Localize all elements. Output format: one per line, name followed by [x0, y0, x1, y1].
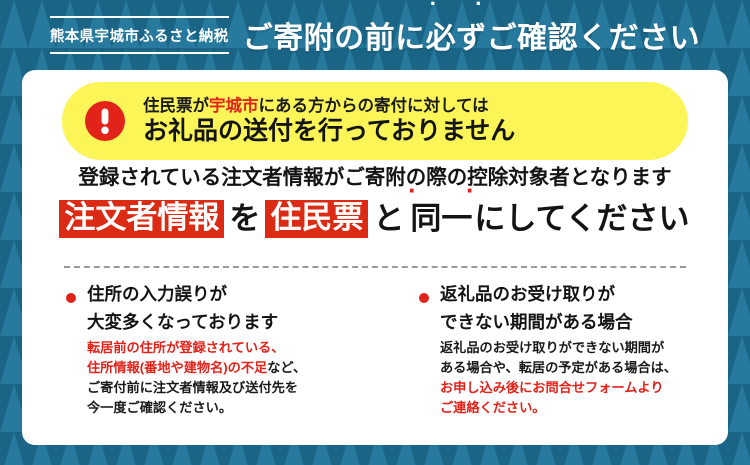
notice-columns: 住所の入力誤りが 大変多くなっております 転居前の住所が登録されている、 住所情…: [22, 282, 728, 419]
paragraph-line: ご寄付前に注文者情報及び送付先を: [87, 378, 365, 398]
exclamation-circle-icon: [84, 100, 126, 142]
paragraph-line: 今一度ご確認ください。: [87, 398, 365, 418]
alert-line1-before: 住民票が: [143, 97, 209, 115]
title-part-2: ご確認ください: [487, 22, 701, 55]
column-body: 返礼品のお受け取りが できない期間がある場合 返礼品のお受け取りができない期間が…: [440, 282, 718, 419]
column-heading-line-1: 住所の入力誤りが: [87, 282, 365, 306]
middle-emphasis-block: 登録されている注文者情報がご寄附の際の控除対象者となります 注文者情報を住民票と…: [22, 166, 728, 238]
middle-line-2: 注文者情報を住民票と同一にしてください: [22, 200, 728, 238]
paragraph-line: ある場合や、転居の予定がある場合は、: [440, 358, 718, 378]
title-emphasis-kanarazu: 必ず: [426, 13, 487, 57]
banner-header: 熊本県宇城市ふるさと納税 ご寄附の前に必ずご確認ください: [0, 0, 750, 70]
middle-emphasis-douitsu: 同一: [409, 201, 473, 237]
middle-line2-tail: にしてください: [473, 201, 690, 237]
red-dot-bullet-icon: [66, 293, 76, 303]
notice-column-delivery-window: 返礼品のお受け取りが できない期間がある場合 返礼品のお受け取りができない期間が…: [375, 282, 728, 419]
middle-separator-1: を: [224, 201, 265, 237]
middle-separator-2: と: [368, 201, 409, 237]
alert-line-2: お礼品の送付を行っておりません: [143, 117, 515, 145]
column-paragraph: 転居前の住所が登録されている、 住所情報(番地や建物名)の不足など、 ご寄付前に…: [87, 338, 365, 418]
paragraph-line: 住所情報(番地や建物名)の不足など、: [87, 358, 365, 378]
alert-line-1: 住民票が宇城市にある方からの寄付に対しては: [143, 97, 515, 116]
dashed-divider: [64, 266, 686, 268]
alert-line1-highlight-ushiki: 宇城市: [209, 97, 259, 115]
column-body: 住所の入力誤りが 大変多くなっております 転居前の住所が登録されている、 住所情…: [87, 282, 365, 419]
redbox-residence-certificate: 住民票: [265, 200, 368, 238]
paragraph-line: お申し込み後にお問合せフォームより: [440, 378, 718, 398]
alert-line1-after: にある方からの寄付に対しては: [259, 97, 489, 115]
municipality-kicker: 熊本県宇城市ふるさと納税: [50, 16, 229, 54]
paragraph-line: 返礼品のお受け取りができない期間が: [440, 338, 718, 358]
page-title: ご寄附の前に必ずご確認ください: [243, 13, 701, 57]
column-heading-line-2: できない期間がある場合: [440, 310, 718, 334]
column-heading-line-1: 返礼品のお受け取りが: [440, 282, 718, 306]
notice-column-address-errors: 住所の入力誤りが 大変多くなっております 転居前の住所が登録されている、 住所情…: [22, 282, 375, 419]
alert-text-group: 住民票が宇城市にある方からの寄付に対しては お礼品の送付を行っておりません: [143, 97, 515, 145]
alert-pill: 住民票が宇城市にある方からの寄付に対しては お礼品の送付を行っておりません: [62, 82, 688, 160]
content-card: 住民票が宇城市にある方からの寄付に対しては お礼品の送付を行っておりません 登録…: [22, 70, 728, 445]
paragraph-line: ご連絡ください。: [440, 398, 718, 418]
middle-line-1: 登録されている注文者情報がご寄附の際の控除対象者となります: [22, 166, 728, 191]
title-part-1: ご寄附の前に: [243, 22, 426, 55]
banner-root: 熊本県宇城市ふるさと納税 ご寄附の前に必ずご確認ください 住民票が宇城市にある方…: [0, 0, 750, 465]
column-paragraph: 返礼品のお受け取りができない期間が ある場合や、転居の予定がある場合は、 お申し…: [440, 338, 718, 418]
red-dot-bullet-icon: [419, 293, 429, 303]
paragraph-line: 転居前の住所が登録されている、: [87, 338, 365, 358]
redbox-orderer-info: 注文者情報: [59, 200, 224, 238]
column-heading-line-2: 大変多くなっております: [87, 310, 365, 334]
